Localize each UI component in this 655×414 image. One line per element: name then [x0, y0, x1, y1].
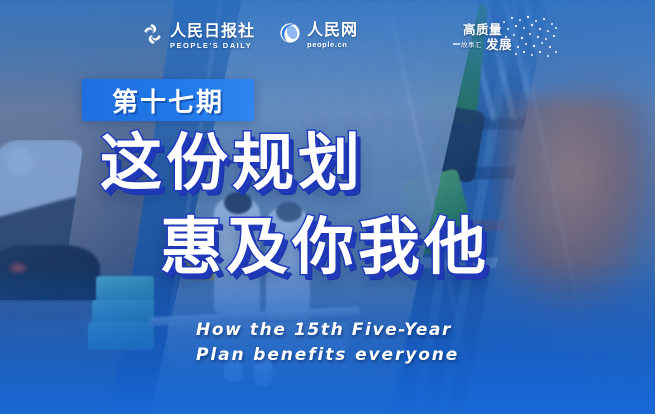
badge-line-bottom: 发展 [486, 34, 512, 53]
brand-name-cn: 人民日报社 [170, 23, 255, 39]
badge-tick-mark [453, 43, 460, 45]
episode-badge[interactable]: 第十七期 [82, 79, 254, 121]
brand-text-peoples-daily: 人民日报社 PEOPLE'S DAILY [170, 23, 255, 50]
people-cn-globe-icon [279, 22, 301, 49]
brand-people-cn[interactable]: 人民网 people.cn [279, 22, 358, 49]
brand-name-en: PEOPLE'S DAILY [170, 42, 255, 50]
brand-text-people-cn: 人民网 people.cn [307, 22, 358, 49]
title-line-1: 这份规划 [100, 130, 364, 196]
title-line-2: 惠及你我他 [160, 214, 490, 280]
brand-peoples-daily[interactable]: 人民日报社 PEOPLE'S DAILY [141, 22, 255, 51]
brand-logo-group: 人民日报社 PEOPLE'S DAILY 人民网 people.cn [141, 22, 358, 51]
badge-small-label: 故事汇 [461, 39, 482, 49]
high-quality-development-badge[interactable]: 高质量 发展 故事汇 [455, 14, 560, 60]
poster-root: 人民日报社 PEOPLE'S DAILY 人民网 people.cn [0, 0, 655, 414]
subtitle-line-1: How the 15th Five-Year [196, 318, 616, 343]
peoples-daily-logo-icon [141, 22, 164, 51]
subtitle-line-2: Plan benefits everyone [196, 343, 616, 368]
brand-name-en: people.cn [307, 41, 358, 49]
episode-label: 第十七期 [112, 82, 224, 119]
english-subtitle: How the 15th Five-Year Plan benefits eve… [196, 318, 616, 367]
brand-name-cn: 人民网 [307, 22, 358, 38]
